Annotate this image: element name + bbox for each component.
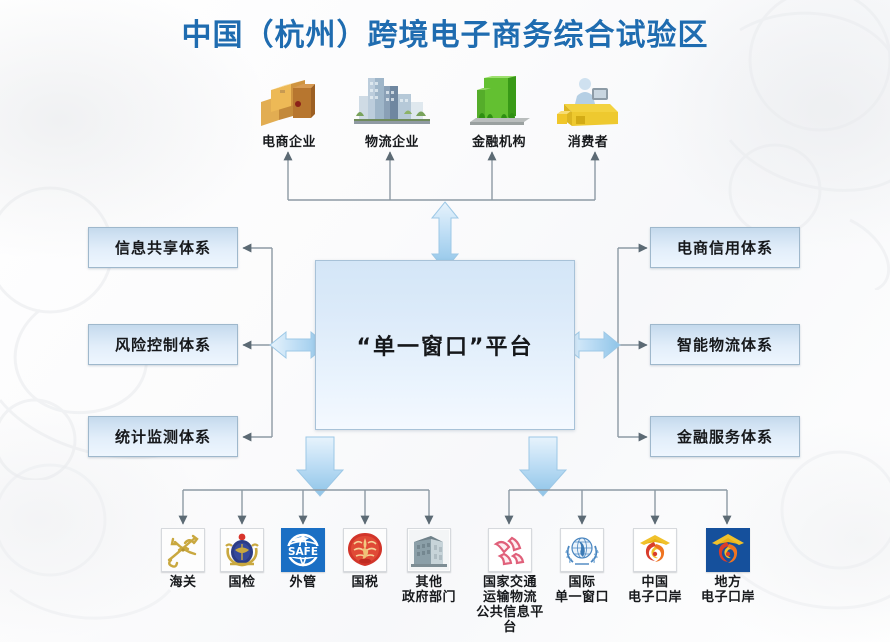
platform-national-logistics[interactable]: 国家交通 运输物流 公共信息平台 xyxy=(475,528,545,635)
safe-forex-logo-icon: SAFE xyxy=(281,528,325,572)
box-label: 金融服务体系 xyxy=(677,426,773,447)
platform-local-eport[interactable]: 地方 电子口岸 xyxy=(698,528,758,605)
actor-label: 金融机构 xyxy=(464,135,534,150)
actor-logistics[interactable]: 物流企业 xyxy=(352,72,432,150)
center-label: “单一窗口”平台 xyxy=(357,329,534,361)
government-building-icon xyxy=(407,528,451,572)
taxation-emblem-icon xyxy=(343,528,387,572)
consumer-at-desk-icon xyxy=(552,74,624,132)
actor-consumer[interactable]: 消费者 xyxy=(552,74,624,150)
platform-international-single-window[interactable]: 国际 单一窗口 xyxy=(552,528,612,605)
arrow-center-to-gov xyxy=(297,437,343,496)
box-label: 风险控制体系 xyxy=(115,334,211,355)
logink-logistics-logo-icon xyxy=(488,528,532,572)
gov-label: 国税 xyxy=(337,575,393,590)
right-system-ecommerce-credit[interactable]: 电商信用体系 xyxy=(650,227,800,268)
gov-label: 海关 xyxy=(155,575,211,590)
actor-financial-institution[interactable]: 金融机构 xyxy=(464,74,534,150)
platform-label: 地方 电子口岸 xyxy=(698,575,758,605)
gov-taxation[interactable]: 国税 xyxy=(337,528,393,590)
diagram-canvas: 中国（杭州）跨境电子商务综合试验区 xyxy=(0,0,890,642)
box-label: 智能物流体系 xyxy=(677,334,773,355)
gov-forex[interactable]: SAFE 外管 xyxy=(275,528,331,590)
gov-other-departments[interactable]: 其他 政府部门 xyxy=(401,528,457,605)
gov-label: 国检 xyxy=(214,575,270,590)
left-system-info-sharing[interactable]: 信息共享体系 xyxy=(88,227,238,268)
single-window-platform[interactable]: “单一窗口”平台 xyxy=(315,260,575,430)
box-label: 统计监测体系 xyxy=(115,426,211,447)
office-buildings-icon xyxy=(352,72,432,132)
svg-text:SAFE: SAFE xyxy=(288,546,318,558)
un-globe-wreath-icon xyxy=(560,528,604,572)
platform-label: 中国 电子口岸 xyxy=(625,575,685,605)
left-system-risk-control[interactable]: 风险控制体系 xyxy=(88,324,238,365)
green-bank-building-icon xyxy=(464,74,534,132)
cardboard-boxes-icon xyxy=(253,76,325,132)
box-label: 信息共享体系 xyxy=(115,237,211,258)
local-eport-emblem-icon xyxy=(706,528,750,572)
actor-label: 电商企业 xyxy=(253,135,325,150)
china-eport-emblem-icon xyxy=(633,528,677,572)
platform-label: 国家交通 运输物流 公共信息平台 xyxy=(475,575,545,635)
gov-inspection[interactable]: 国检 xyxy=(214,528,270,590)
arrow-center-to-platforms xyxy=(520,437,566,496)
left-system-statistics-monitoring[interactable]: 统计监测体系 xyxy=(88,416,238,457)
right-system-financial-services[interactable]: 金融服务体系 xyxy=(650,416,800,457)
box-label: 电商信用体系 xyxy=(677,237,773,258)
gov-customs[interactable]: 海关 xyxy=(155,528,211,590)
background-ornament-bottom-left xyxy=(0,430,180,640)
gov-label: 外管 xyxy=(275,575,331,590)
platform-label: 国际 单一窗口 xyxy=(552,575,612,605)
actor-ecommerce[interactable]: 电商企业 xyxy=(253,76,325,150)
actor-label: 消费者 xyxy=(552,135,624,150)
inspection-quarantine-emblem-icon xyxy=(220,528,264,572)
right-system-smart-logistics[interactable]: 智能物流体系 xyxy=(650,324,800,365)
gov-label: 其他 政府部门 xyxy=(401,575,457,605)
customs-emblem-icon xyxy=(161,528,205,572)
platform-china-eport[interactable]: 中国 电子口岸 xyxy=(625,528,685,605)
actor-label: 物流企业 xyxy=(352,135,432,150)
page-title: 中国（杭州）跨境电子商务综合试验区 xyxy=(0,10,890,54)
